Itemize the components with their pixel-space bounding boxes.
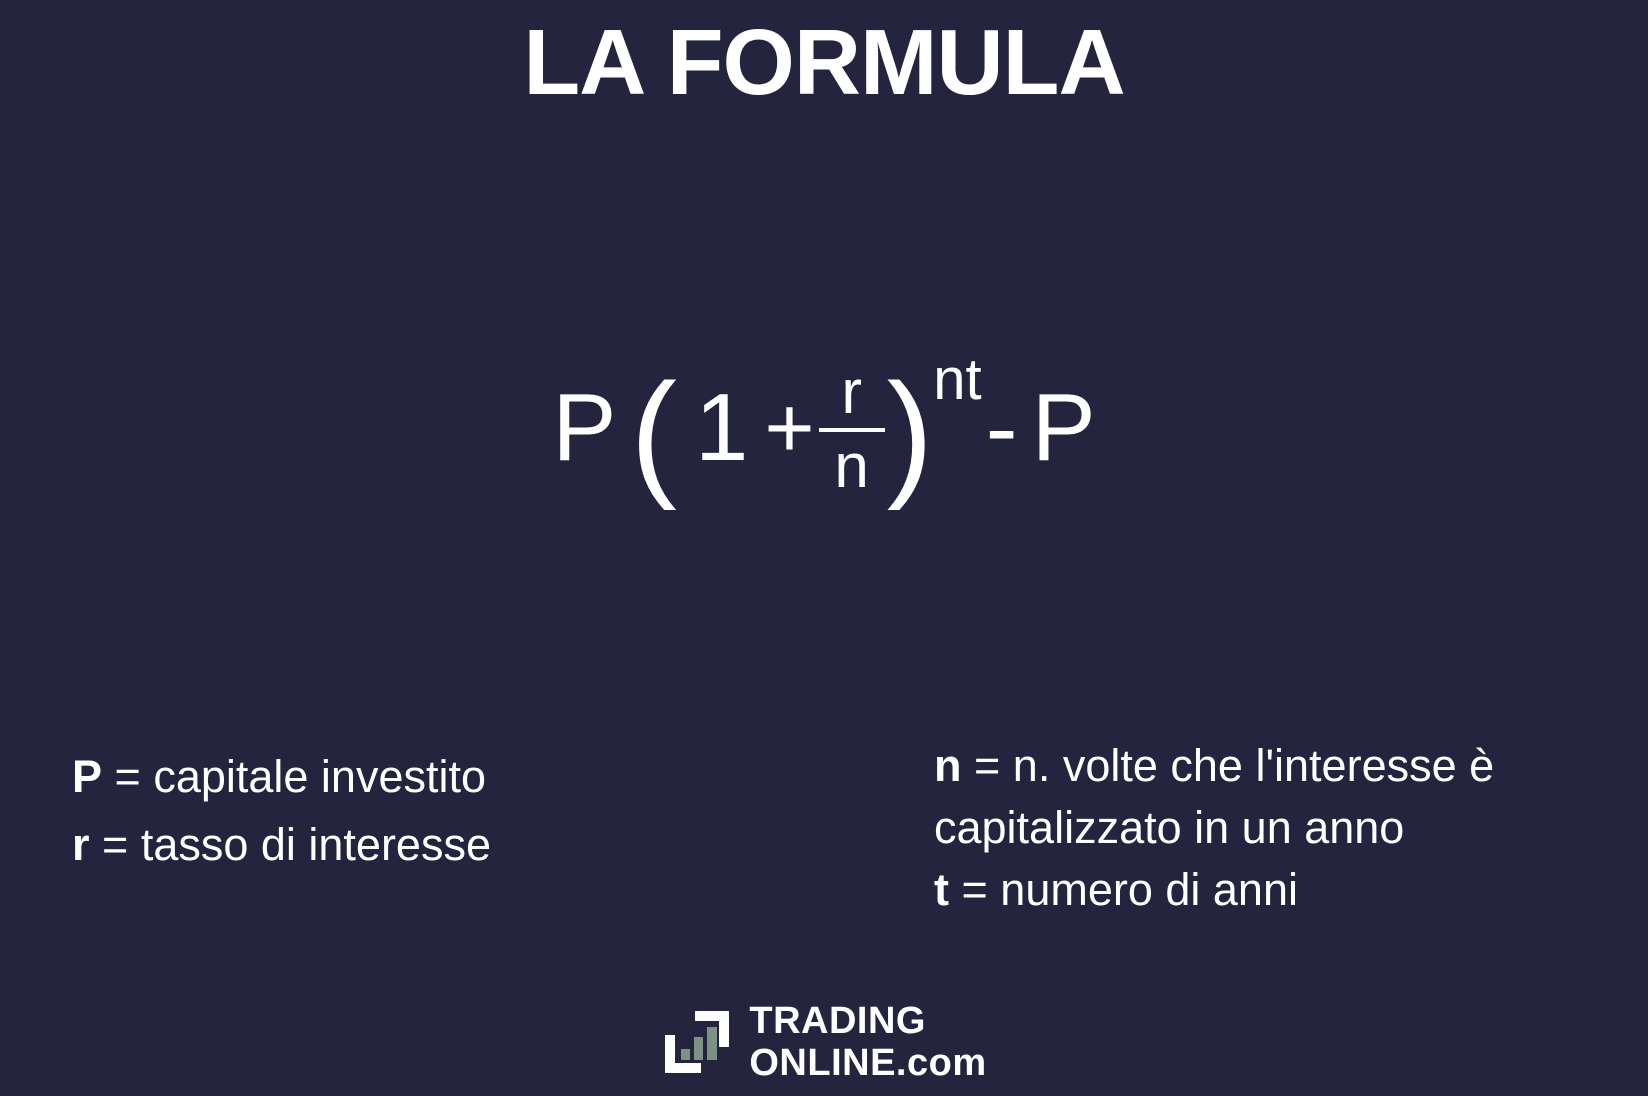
legend-item-t: t = numero di anni bbox=[934, 859, 1574, 921]
legend-equals-r: = bbox=[90, 819, 141, 870]
legend-item-n: n = n. volte che l'interesse è capitaliz… bbox=[934, 735, 1574, 859]
formula-fraction: r n bbox=[819, 362, 885, 498]
logo-line-online: ONLINE.com bbox=[749, 1044, 986, 1082]
legend-symbol-t: t bbox=[934, 864, 949, 915]
legend-symbol-P: P bbox=[72, 751, 102, 802]
logo-online-text: ONLINE bbox=[749, 1042, 896, 1084]
logo-line-trading: TRADING bbox=[749, 1002, 986, 1040]
formula-exponent: nt bbox=[933, 351, 981, 409]
logo-wordmark: TRADING ONLINE.com bbox=[749, 1002, 986, 1082]
bar-chart-bracket-icon bbox=[661, 1007, 733, 1077]
page-title: LA FORMULA bbox=[0, 14, 1648, 112]
legend-definition-r: tasso di interesse bbox=[141, 819, 491, 870]
logo-dotcom-text: .com bbox=[896, 1042, 987, 1084]
legend-symbol-n: n bbox=[934, 740, 962, 791]
formula-close-paren: ) bbox=[887, 373, 934, 492]
legend-left-column: P = capitale investito r = tasso di inte… bbox=[72, 743, 491, 878]
formula-principal: P bbox=[546, 380, 630, 476]
formula-minus-sign: - bbox=[982, 380, 1024, 476]
legend-equals-P: = bbox=[102, 751, 153, 802]
legend-equals-n: = bbox=[962, 740, 1013, 791]
formula-one: 1 bbox=[685, 380, 764, 476]
legend-item-P: P = capitale investito bbox=[72, 743, 491, 811]
legend-item-r: r = tasso di interesse bbox=[72, 811, 491, 879]
legend-symbol-r: r bbox=[72, 819, 90, 870]
formula-subtract-principal: P bbox=[1024, 380, 1102, 476]
formula-plus-sign: + bbox=[764, 385, 816, 471]
legend-equals-t: = bbox=[949, 864, 1000, 915]
formula-open-paren: ( bbox=[630, 373, 685, 492]
site-logo[interactable]: TRADING ONLINE.com bbox=[0, 1002, 1648, 1082]
formula-fraction-denominator: n bbox=[834, 432, 868, 498]
legend-definition-n: n. volte che l'interesse è capitalizzato… bbox=[934, 740, 1494, 853]
formula-expression: P ( 1 + r n ) nt - P bbox=[0, 360, 1648, 496]
formula-fraction-numerator: r bbox=[841, 362, 862, 428]
legend-right-column: n = n. volte che l'interesse è capitaliz… bbox=[934, 735, 1574, 921]
legend-definition-P: capitale investito bbox=[153, 751, 486, 802]
legend-definition-t: numero di anni bbox=[1000, 864, 1298, 915]
